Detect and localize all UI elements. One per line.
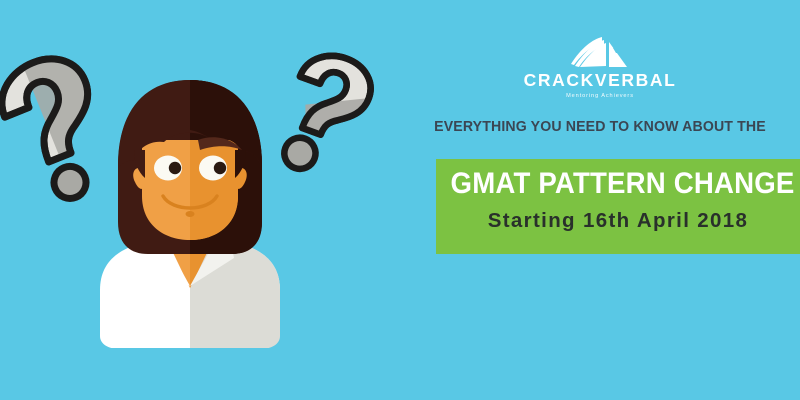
page-title: GMAT PATTERN CHANGE bbox=[451, 167, 786, 202]
logo-wordmark: CRACKVERBAL bbox=[400, 72, 800, 90]
question-mark-right-icon bbox=[270, 46, 379, 184]
gmat-pattern-change-banner: CRACKVERBAL Mentoring Achievers EVERYTHI… bbox=[0, 0, 800, 400]
character-chin-dimple bbox=[186, 211, 195, 217]
page-subtitle: Starting 16th April 2018 bbox=[436, 209, 800, 233]
crackverbal-logo[interactable]: CRACKVERBAL Mentoring Achievers bbox=[400, 36, 800, 99]
woman-character bbox=[100, 80, 280, 352]
open-book-mountain-logo-icon bbox=[569, 36, 631, 70]
logo-tagline: Mentoring Achievers bbox=[400, 94, 800, 100]
question-mark-left-icon bbox=[0, 47, 124, 211]
eyebrow-headline: EVERYTHING YOU NEED TO KNOW ABOUT THE bbox=[414, 119, 786, 136]
illustration-area bbox=[0, 0, 400, 400]
green-title-band: GMAT PATTERN CHANGE Starting 16th April … bbox=[436, 159, 800, 254]
content-area: CRACKVERBAL Mentoring Achievers EVERYTHI… bbox=[400, 0, 800, 400]
